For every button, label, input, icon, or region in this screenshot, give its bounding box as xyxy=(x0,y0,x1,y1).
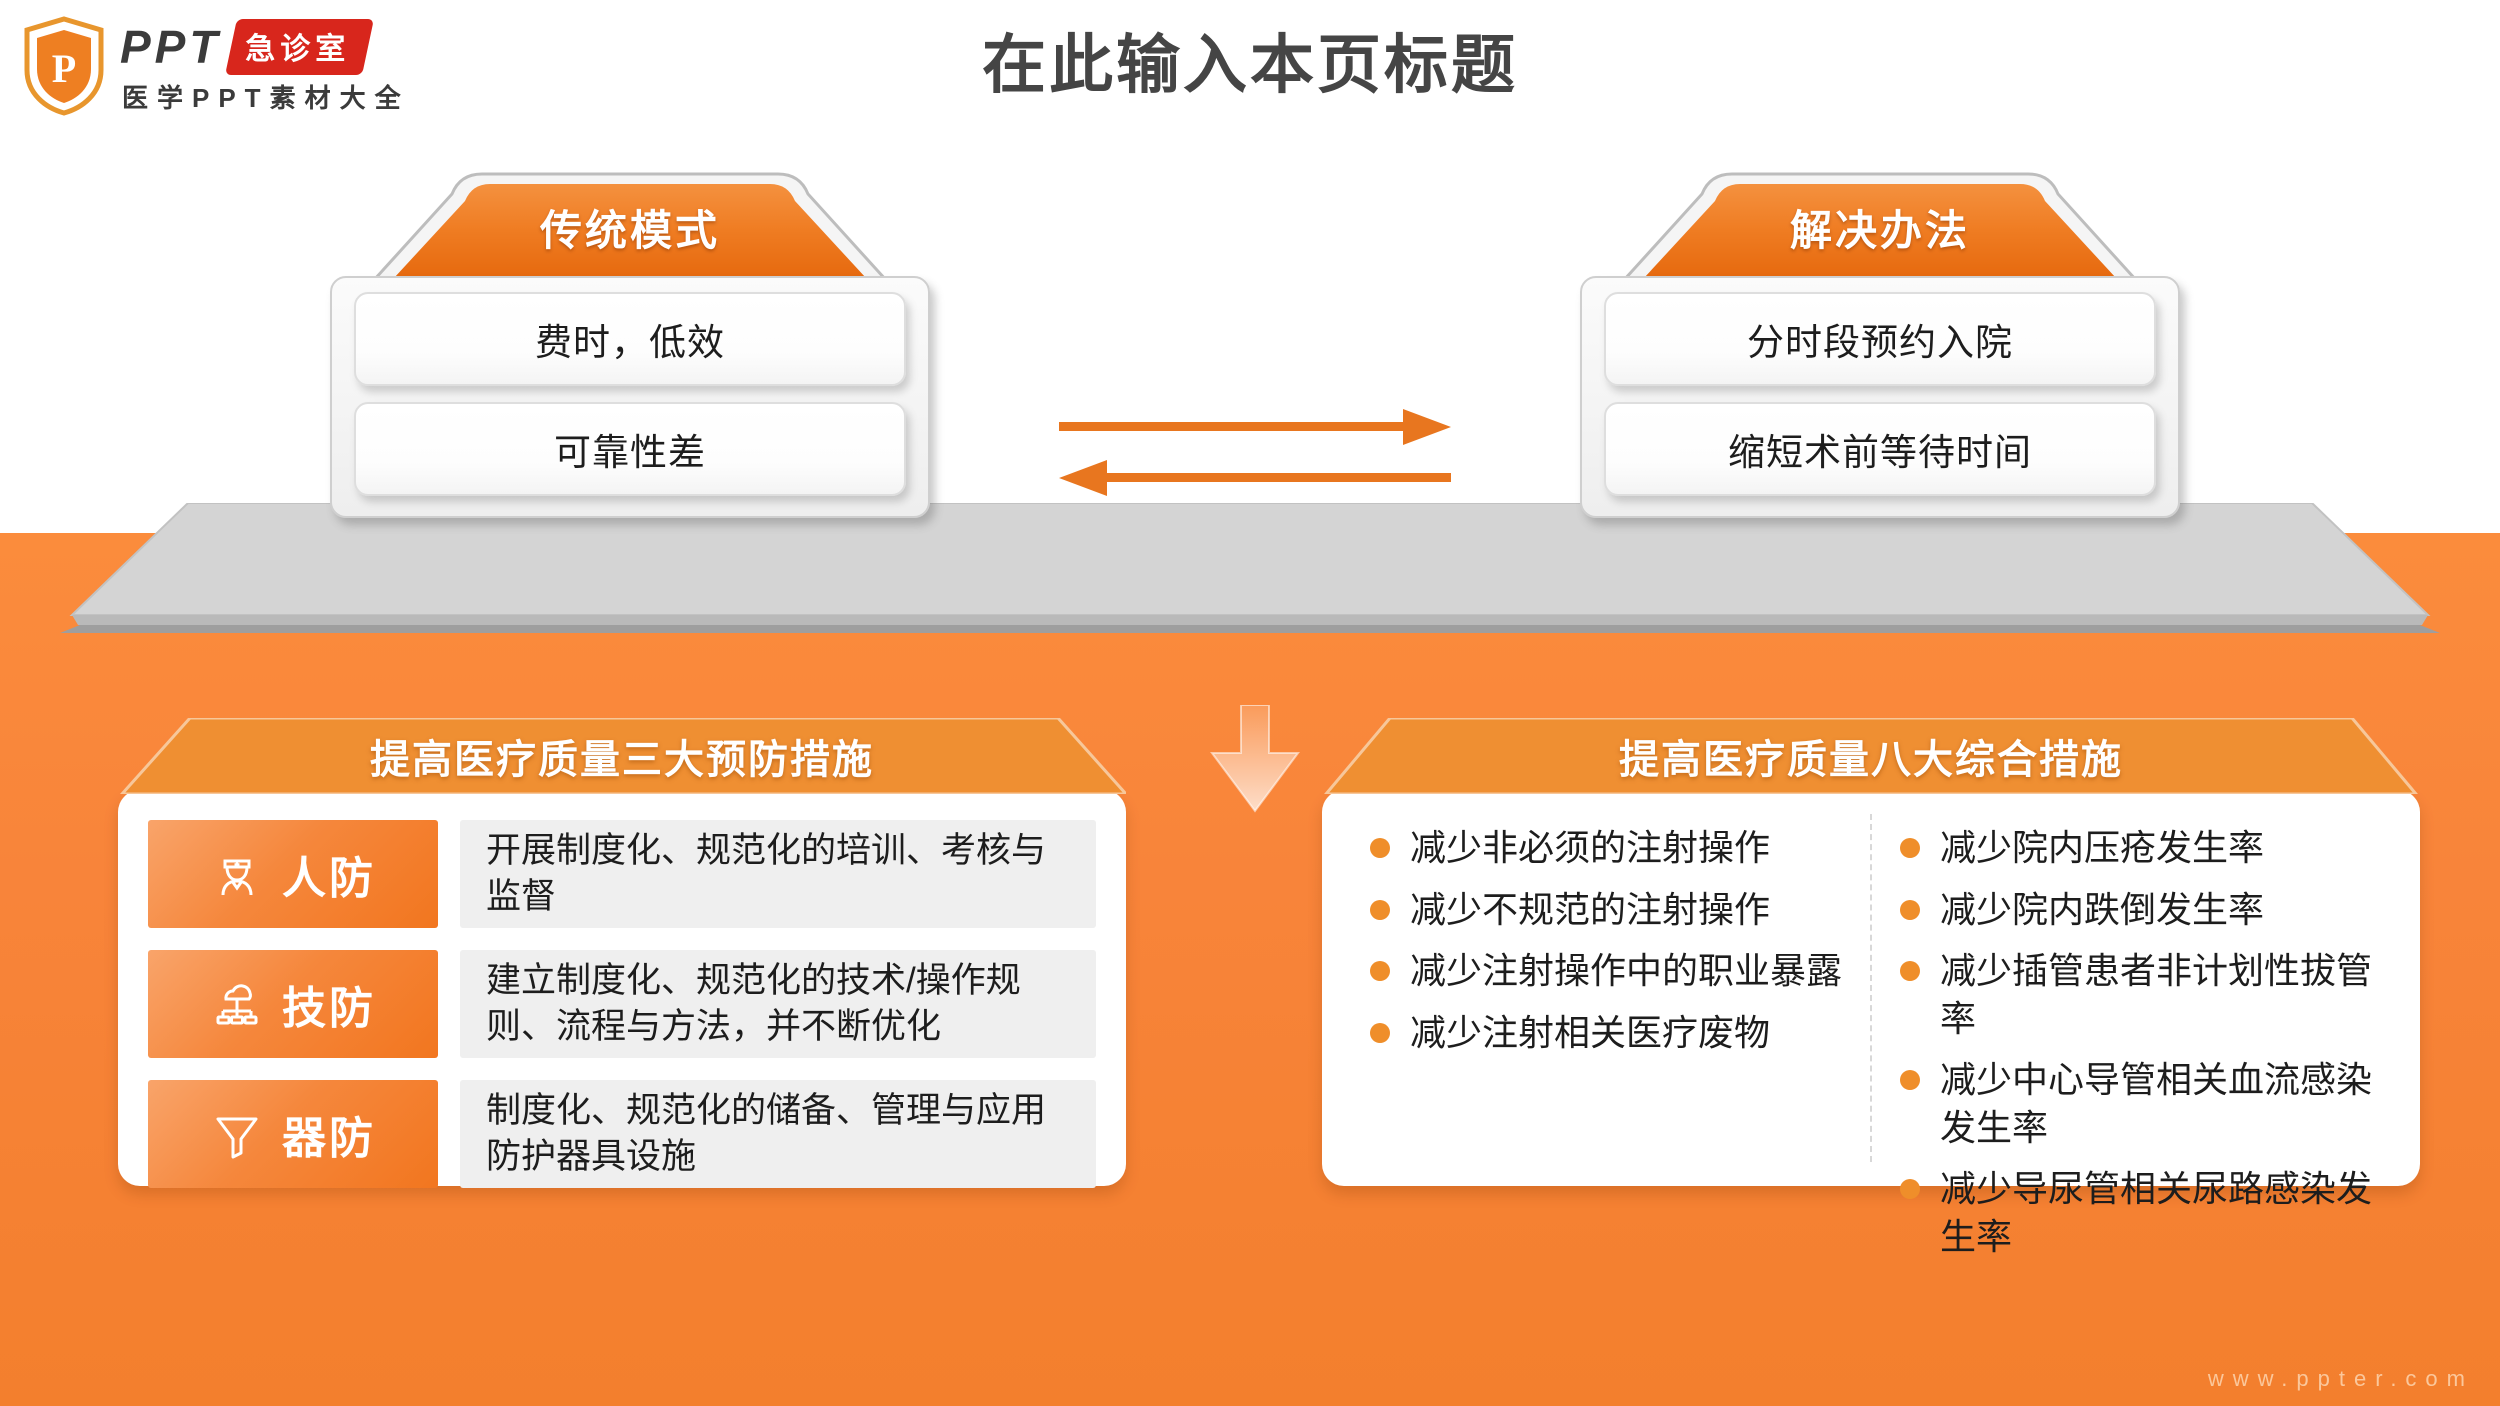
list-item: 减少院内跌倒发生率 xyxy=(1900,886,2386,934)
panel-card: 人防 开展制度化、规范化的培训、考核与监督 技防 xyxy=(118,790,1126,1186)
list-item-text: 减少插管患者非计划性拔管率 xyxy=(1940,947,2386,1042)
panel-eight-comprehensive: 提高医疗质量八大综合措施 减少非必须的注射操作 减少不规范的注射操作 减少注射操… xyxy=(1322,718,2420,1186)
pedestal-row: 费时，低效 xyxy=(354,292,906,386)
pedestal-body: 费时，低效 可靠性差 xyxy=(330,276,930,518)
panel-banner-label: 提高医疗质量三大预防措施 xyxy=(118,718,1126,794)
list-item-text: 减少不规范的注射操作 xyxy=(1410,886,1770,934)
bullet-dot-icon xyxy=(1900,838,1920,858)
list-item: 减少注射操作中的职业暴露 xyxy=(1370,947,1856,995)
panel-banner: 提高医疗质量八大综合措施 xyxy=(1322,718,2420,794)
panel-banner-label: 提高医疗质量八大综合措施 xyxy=(1322,718,2420,794)
list-item-text: 减少注射相关医疗废物 xyxy=(1410,1009,1770,1057)
measure-tag: 技防 xyxy=(148,950,438,1058)
list-item-text: 减少注射操作中的职业暴露 xyxy=(1410,947,1842,995)
funnel-icon xyxy=(210,1107,264,1161)
list-item: 减少插管患者非计划性拔管率 xyxy=(1900,947,2386,1042)
platform-slab xyxy=(60,503,2440,633)
list-item: 减少不规范的注射操作 xyxy=(1370,886,1856,934)
panel-three-preventive: 提高医疗质量三大预防措施 人防 开展制度化、规 xyxy=(118,718,1126,1186)
list-item-text: 减少院内压疮发生率 xyxy=(1940,824,2264,872)
list-item: 减少院内压疮发生率 xyxy=(1900,824,2386,872)
bullet-dot-icon xyxy=(1370,838,1390,858)
bullet-dot-icon xyxy=(1370,900,1390,920)
measure-tag-label: 人防 xyxy=(282,842,376,906)
measure-row: 器防 制度化、规范化的储备、管理与应用防护器具设施 xyxy=(148,1080,1096,1188)
measure-tag-label: 器防 xyxy=(282,1102,376,1166)
list-item: 减少非必须的注射操作 xyxy=(1370,824,1856,872)
pedestal-row: 可靠性差 xyxy=(354,402,906,496)
bullet-dot-icon xyxy=(1900,1070,1920,1090)
page-title: 在此输入本页标题 xyxy=(0,14,2500,106)
list-item: 减少注射相关医疗废物 xyxy=(1370,1009,1856,1057)
bullet-dot-icon xyxy=(1370,1023,1390,1043)
exchange-arrows xyxy=(1055,405,1455,515)
nurse-icon xyxy=(210,847,264,901)
pedestal-row: 分时段预约入院 xyxy=(1604,292,2156,386)
pedestal-row: 缩短术前等待时间 xyxy=(1604,402,2156,496)
measure-tag: 器防 xyxy=(148,1080,438,1188)
bullet-column-left: 减少非必须的注射操作 减少不规范的注射操作 减少注射操作中的职业暴露 减少注射相… xyxy=(1342,814,1872,1162)
list-item-text: 减少导尿管相关尿路感染发生率 xyxy=(1940,1165,2386,1260)
list-item-text: 减少非必须的注射操作 xyxy=(1410,824,1770,872)
measure-row: 技防 建立制度化、规范化的技术/操作规则、流程与方法，并不断优化 xyxy=(148,950,1096,1058)
slide-canvas: P PPT 急诊室 医学PPT素材大全 在此输入本页标题 xyxy=(0,0,2500,1406)
list-item-text: 减少中心导管相关血流感染发生率 xyxy=(1940,1056,2386,1151)
arrow-right-icon xyxy=(1059,409,1451,445)
pedestal-cap-label: 传统模式 xyxy=(330,168,930,286)
list-item-text: 减少院内跌倒发生率 xyxy=(1940,886,2264,934)
measure-text: 制度化、规范化的储备、管理与应用防护器具设施 xyxy=(460,1080,1096,1188)
bullet-dot-icon xyxy=(1900,900,1920,920)
pedestal-body: 分时段预约入院 缩短术前等待时间 xyxy=(1580,276,2180,518)
measure-tag: 人防 xyxy=(148,820,438,928)
measure-row: 人防 开展制度化、规范化的培训、考核与监督 xyxy=(148,820,1096,928)
pedestal-cap-label: 解决办法 xyxy=(1580,168,2180,286)
list-item: 减少中心导管相关血流感染发生率 xyxy=(1900,1056,2386,1151)
measure-tag-label: 技防 xyxy=(282,972,376,1036)
bullet-dot-icon xyxy=(1900,961,1920,981)
site-watermark: www.ppter.com xyxy=(2208,1366,2474,1392)
panel-banner: 提高医疗质量三大预防措施 xyxy=(118,718,1126,794)
bullet-dot-icon xyxy=(1900,1179,1920,1199)
measure-text: 建立制度化、规范化的技术/操作规则、流程与方法，并不断优化 xyxy=(460,950,1096,1058)
bullet-column-right: 减少院内压疮发生率 减少院内跌倒发生率 减少插管患者非计划性拔管率 减少中心导管… xyxy=(1872,814,2400,1162)
bullet-dot-icon xyxy=(1370,961,1390,981)
arrow-left-icon xyxy=(1059,460,1451,496)
panel-card: 减少非必须的注射操作 减少不规范的注射操作 减少注射操作中的职业暴露 减少注射相… xyxy=(1322,790,2420,1186)
measure-text: 开展制度化、规范化的培训、考核与监督 xyxy=(460,820,1096,928)
list-item: 减少导尿管相关尿路感染发生率 xyxy=(1900,1165,2386,1260)
arrow-down-icon xyxy=(1210,705,1300,813)
network-icon xyxy=(210,977,264,1031)
bullet-columns: 减少非必须的注射操作 减少不规范的注射操作 减少注射操作中的职业暴露 减少注射相… xyxy=(1342,814,2400,1162)
